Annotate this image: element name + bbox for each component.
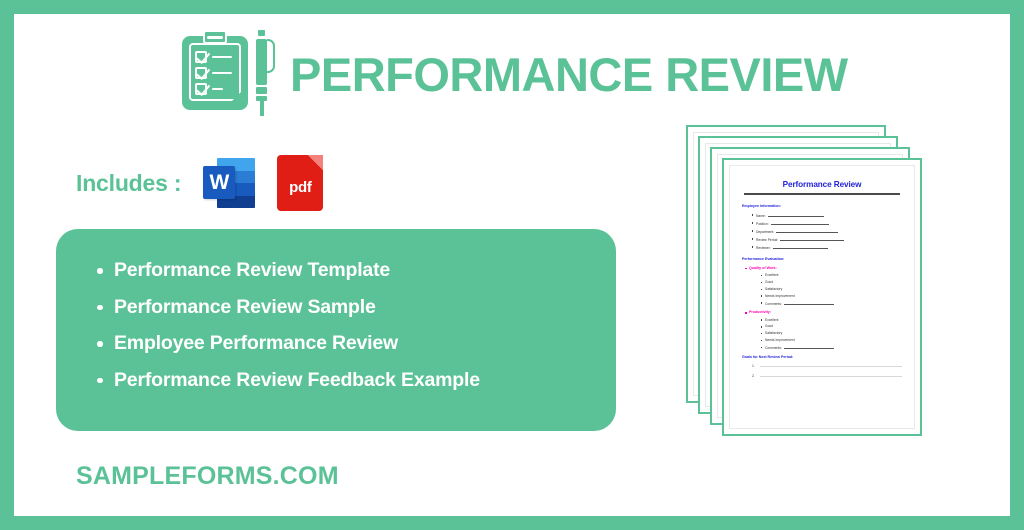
goal-line-item — [752, 373, 902, 378]
included-templates-list: Performance Review Template Performance … — [90, 261, 586, 390]
document-title: Performance Review — [742, 179, 902, 190]
brand-footer: SAMPLEFORMS.COM — [76, 462, 339, 491]
document-section-heading: Employee Information: — [742, 204, 902, 209]
goal-line-item — [752, 363, 902, 368]
criterion-options: Excellent Good Satisfactory Needs Improv… — [742, 318, 902, 351]
included-templates-box: Performance Review Template Performance … — [56, 229, 616, 431]
list-item: Performance Review Template — [114, 261, 586, 281]
form-field: Department: — [756, 229, 902, 235]
word-icon-letter: W — [203, 166, 235, 199]
includes-label: Includes : — [76, 170, 181, 197]
list-item: Performance Review Sample — [114, 298, 586, 318]
criterion-heading: Productivity: — [749, 310, 902, 315]
header-logo — [182, 30, 276, 118]
criterion-options: Excellent Good Satisfactory Needs Improv… — [742, 273, 902, 306]
form-field: Reviewer: — [756, 245, 902, 251]
pdf-icon-label: pdf — [277, 179, 323, 196]
rating-option: Good — [765, 280, 902, 284]
rating-option: Satisfactory — [765, 287, 902, 291]
rating-option: Excellent — [765, 273, 902, 277]
microsoft-word-icon[interactable]: W — [203, 155, 255, 211]
pdf-file-icon[interactable]: pdf — [277, 155, 323, 211]
comments-field: Comments: — [765, 301, 902, 307]
rating-option: Good — [765, 324, 902, 328]
rating-option: Excellent — [765, 318, 902, 322]
document-page-front[interactable]: Performance Review Employee Information:… — [722, 158, 922, 436]
rating-option: Needs Improvement — [765, 294, 902, 298]
document-title-rule — [744, 193, 900, 195]
criterion-heading: Quality of Work: — [749, 266, 902, 271]
includes-row: Includes : W pdf — [76, 155, 323, 211]
form-field: Name: — [756, 213, 902, 219]
form-field: Position: — [756, 221, 902, 227]
document-content: Performance Review Employee Information:… — [730, 166, 914, 390]
rating-option: Satisfactory — [765, 331, 902, 335]
comments-field: Comments: — [765, 345, 902, 351]
employee-information-fields: Name: Position: Department: Review Perio… — [742, 213, 902, 251]
form-field: Review Period: — [756, 237, 902, 243]
document-preview-stack: Performance Review Employee Information:… — [686, 125, 946, 439]
goals-list — [742, 363, 902, 378]
poster-canvas: PERFORMANCE REVIEW Includes : W pdf — [0, 0, 1024, 530]
document-section-heading: Goals for Next Review Period: — [742, 355, 902, 360]
pen-icon — [254, 30, 276, 118]
list-item: Employee Performance Review — [114, 334, 586, 354]
rating-option: Needs Improvement — [765, 338, 902, 342]
document-section-heading: Performance Evaluation: — [742, 257, 902, 262]
poster-inner: PERFORMANCE REVIEW Includes : W pdf — [14, 14, 1010, 516]
header: PERFORMANCE REVIEW — [182, 30, 848, 118]
page-title: PERFORMANCE REVIEW — [290, 51, 848, 98]
clipboard-checklist-icon — [182, 30, 248, 110]
list-item: Performance Review Feedback Example — [114, 371, 586, 391]
